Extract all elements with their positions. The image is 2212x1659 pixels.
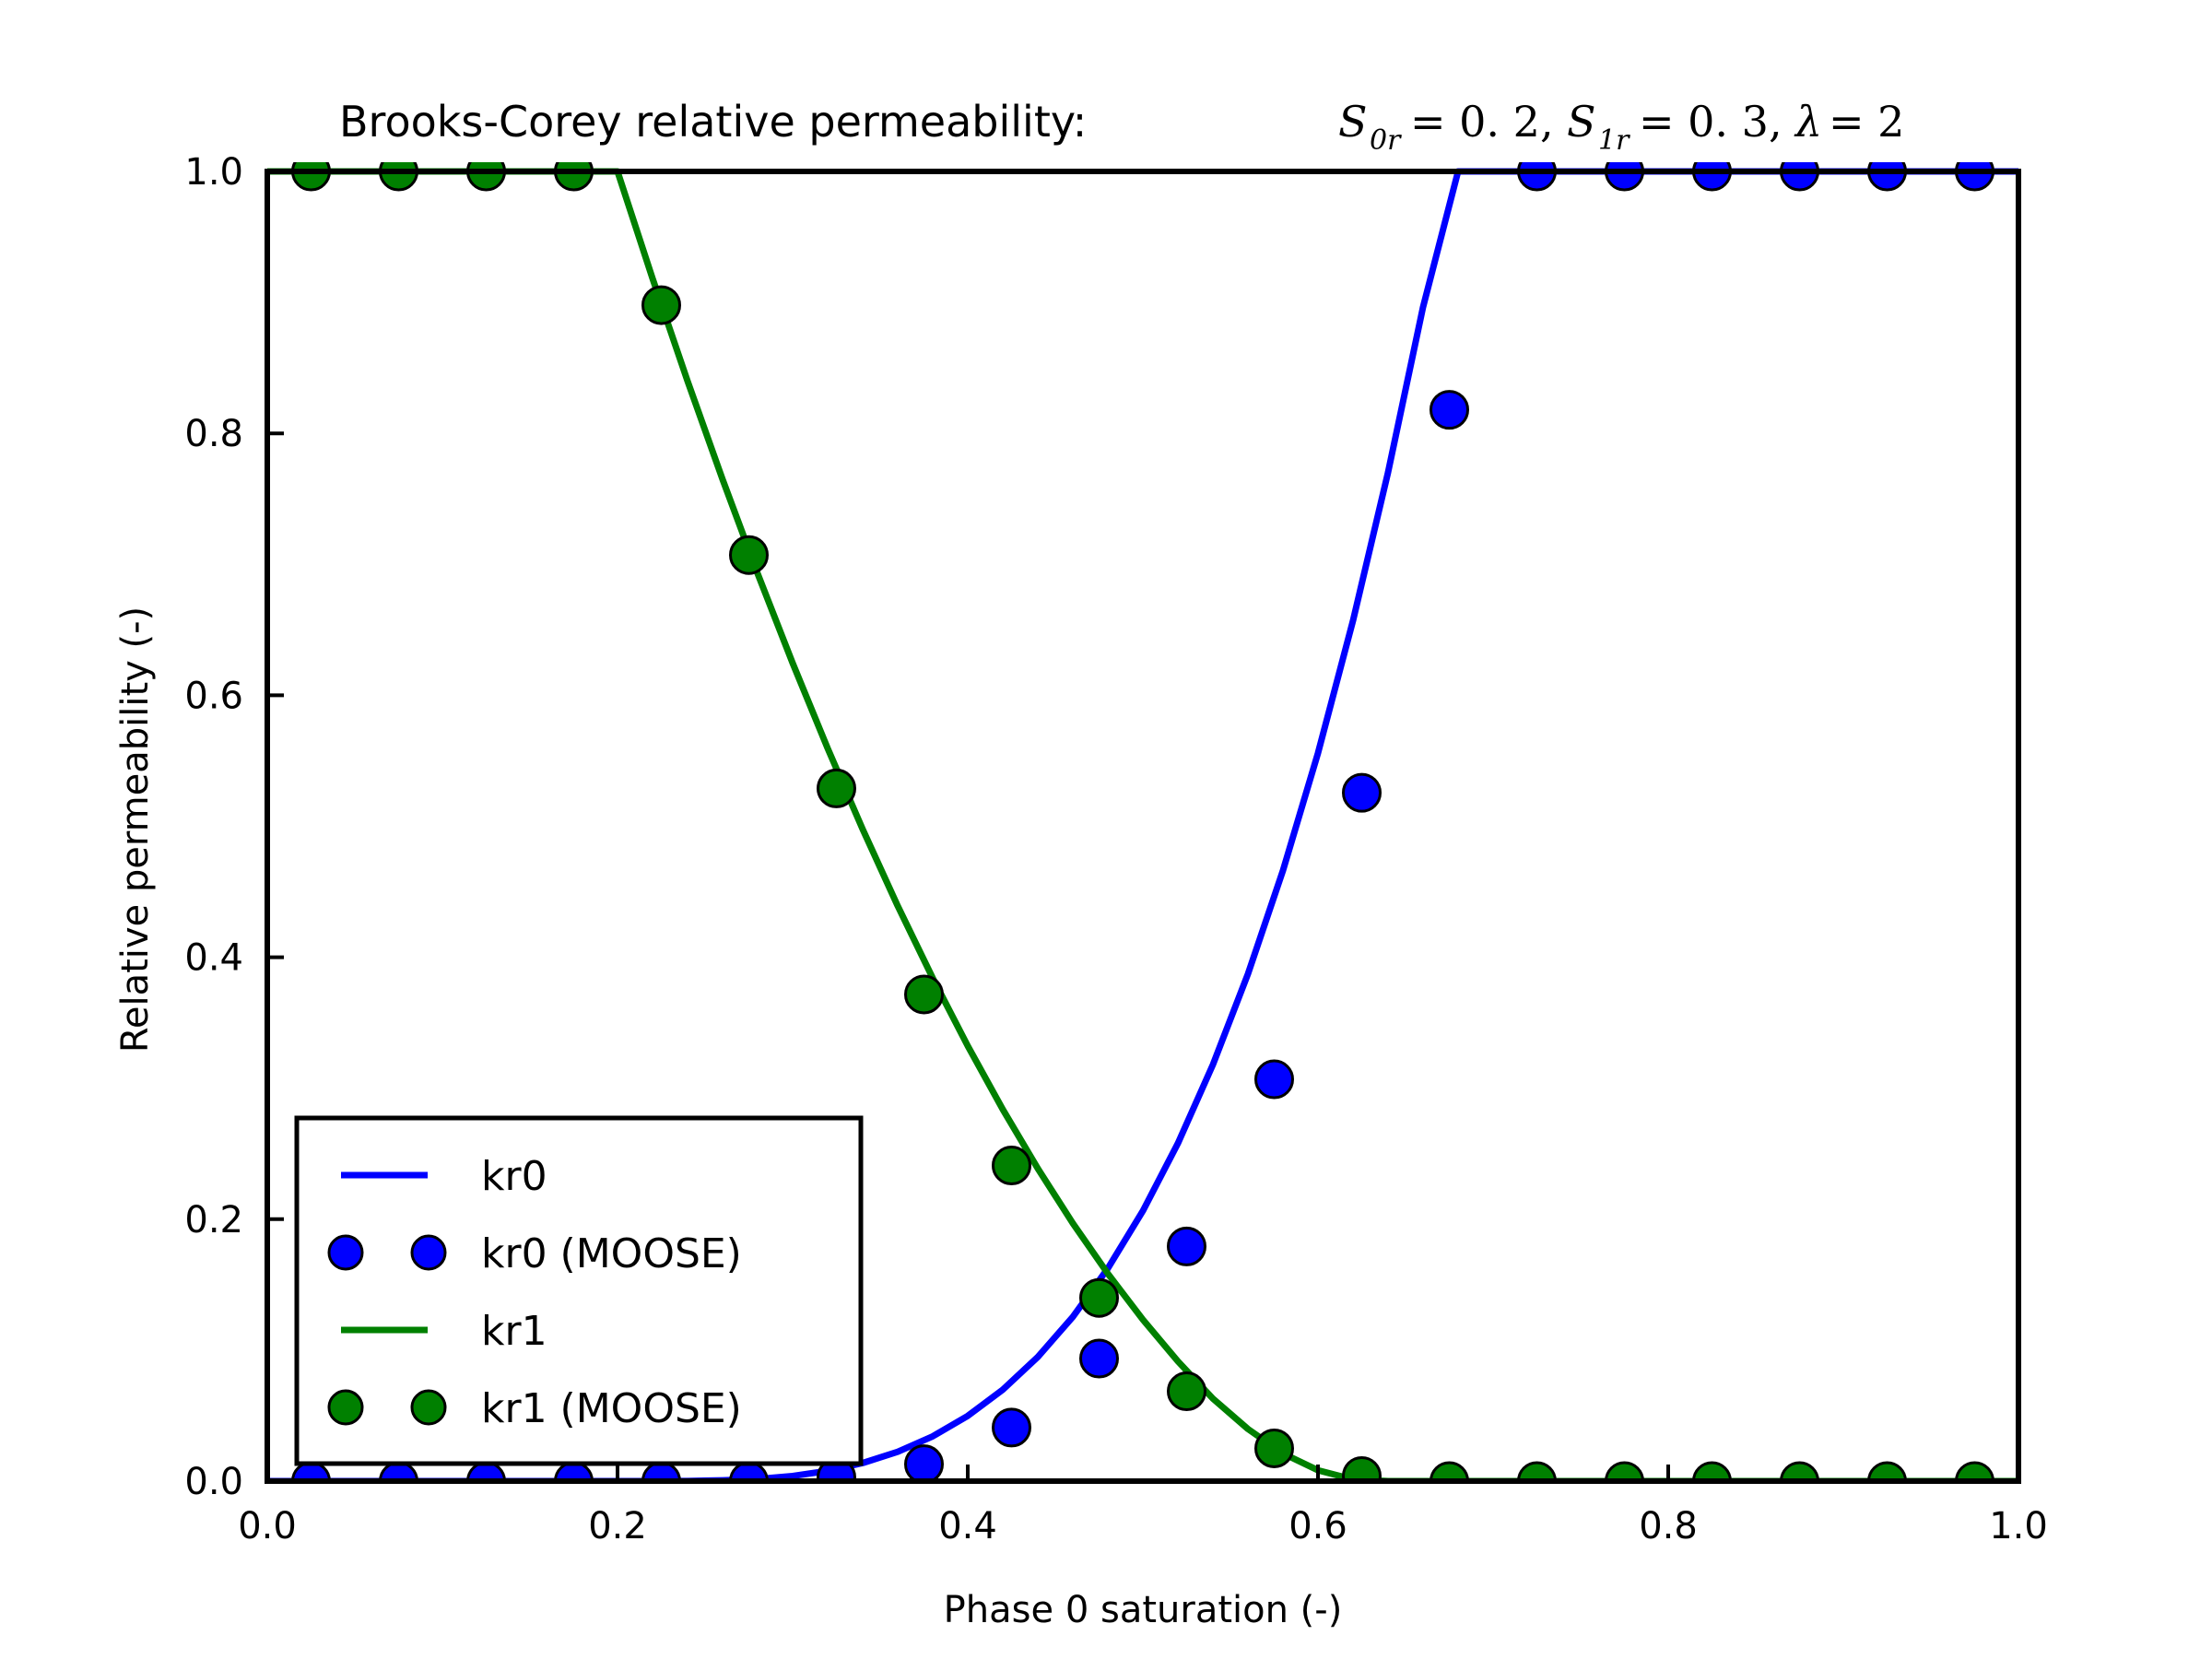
- data-point: [906, 976, 943, 1013]
- y-axis-label: Relative permeability (-): [114, 606, 157, 1053]
- legend-marker-swatch: [329, 1391, 362, 1424]
- title-s1r-subscript: 1r: [1598, 124, 1630, 157]
- x-tick-label: 0.8: [1639, 1505, 1698, 1547]
- x-axis-ticks: 0.00.20.40.60.81.0: [238, 1465, 2048, 1547]
- legend-label: kr0: [481, 1153, 547, 1200]
- y-tick-label: 0.8: [184, 413, 243, 455]
- chart-title: Brooks-Corey relative permeability: S 0r…: [339, 97, 1904, 157]
- x-tick-label: 0.2: [588, 1505, 647, 1547]
- legend-marker-swatch: [412, 1236, 445, 1269]
- data-point: [1256, 1430, 1293, 1466]
- legend-marker-swatch: [329, 1236, 362, 1269]
- data-point: [1256, 1061, 1293, 1098]
- data-point: [1081, 1340, 1118, 1377]
- y-tick-label: 0.4: [184, 937, 243, 980]
- data-point: [994, 1409, 1030, 1446]
- title-lambda-equation: = 2: [1829, 97, 1904, 147]
- title-s0r-equation: = 0. 2,: [1410, 97, 1554, 147]
- y-tick-label: 1.0: [184, 151, 243, 194]
- x-tick-label: 1.0: [1989, 1505, 2048, 1547]
- figure-canvas: Brooks-Corey relative permeability: S 0r…: [0, 0, 2212, 1659]
- data-point: [1344, 1457, 1381, 1494]
- title-s0r-symbol: S: [1338, 97, 1368, 147]
- data-point: [1081, 1279, 1118, 1316]
- y-tick-label: 0.0: [184, 1461, 243, 1503]
- chart-title-text: Brooks-Corey relative permeability:: [339, 97, 1087, 147]
- x-tick-label: 0.4: [938, 1505, 997, 1547]
- legend-marker-swatch: [412, 1391, 445, 1424]
- legend-label: kr1 (MOOSE): [481, 1385, 742, 1432]
- data-point: [1169, 1373, 1206, 1410]
- data-point: [1344, 774, 1381, 811]
- brooks-corey-chart: Brooks-Corey relative permeability: S 0r…: [0, 0, 2212, 1659]
- x-axis-label: Phase 0 saturation (-): [944, 1589, 1343, 1631]
- title-lambda-symbol: λ: [1794, 97, 1822, 147]
- chart-legend[interactable]: kr0kr0 (MOOSE)kr1kr1 (MOOSE): [297, 1118, 861, 1464]
- title-s1r-equation: = 0. 3,: [1639, 97, 1783, 147]
- data-point: [906, 1446, 943, 1483]
- legend-label: kr1: [481, 1308, 547, 1355]
- y-tick-label: 0.6: [184, 675, 243, 717]
- data-point: [1431, 392, 1468, 429]
- data-point: [643, 287, 680, 324]
- title-s0r-subscript: 0r: [1370, 124, 1402, 157]
- x-tick-label: 0.0: [238, 1505, 297, 1547]
- legend-label: kr0 (MOOSE): [481, 1230, 742, 1277]
- data-point: [818, 770, 855, 806]
- data-point: [731, 536, 768, 573]
- y-tick-label: 0.2: [184, 1199, 243, 1241]
- x-tick-label: 0.6: [1288, 1505, 1347, 1547]
- title-s1r-symbol: S: [1567, 97, 1596, 147]
- data-point: [1169, 1228, 1206, 1265]
- data-point: [994, 1147, 1030, 1184]
